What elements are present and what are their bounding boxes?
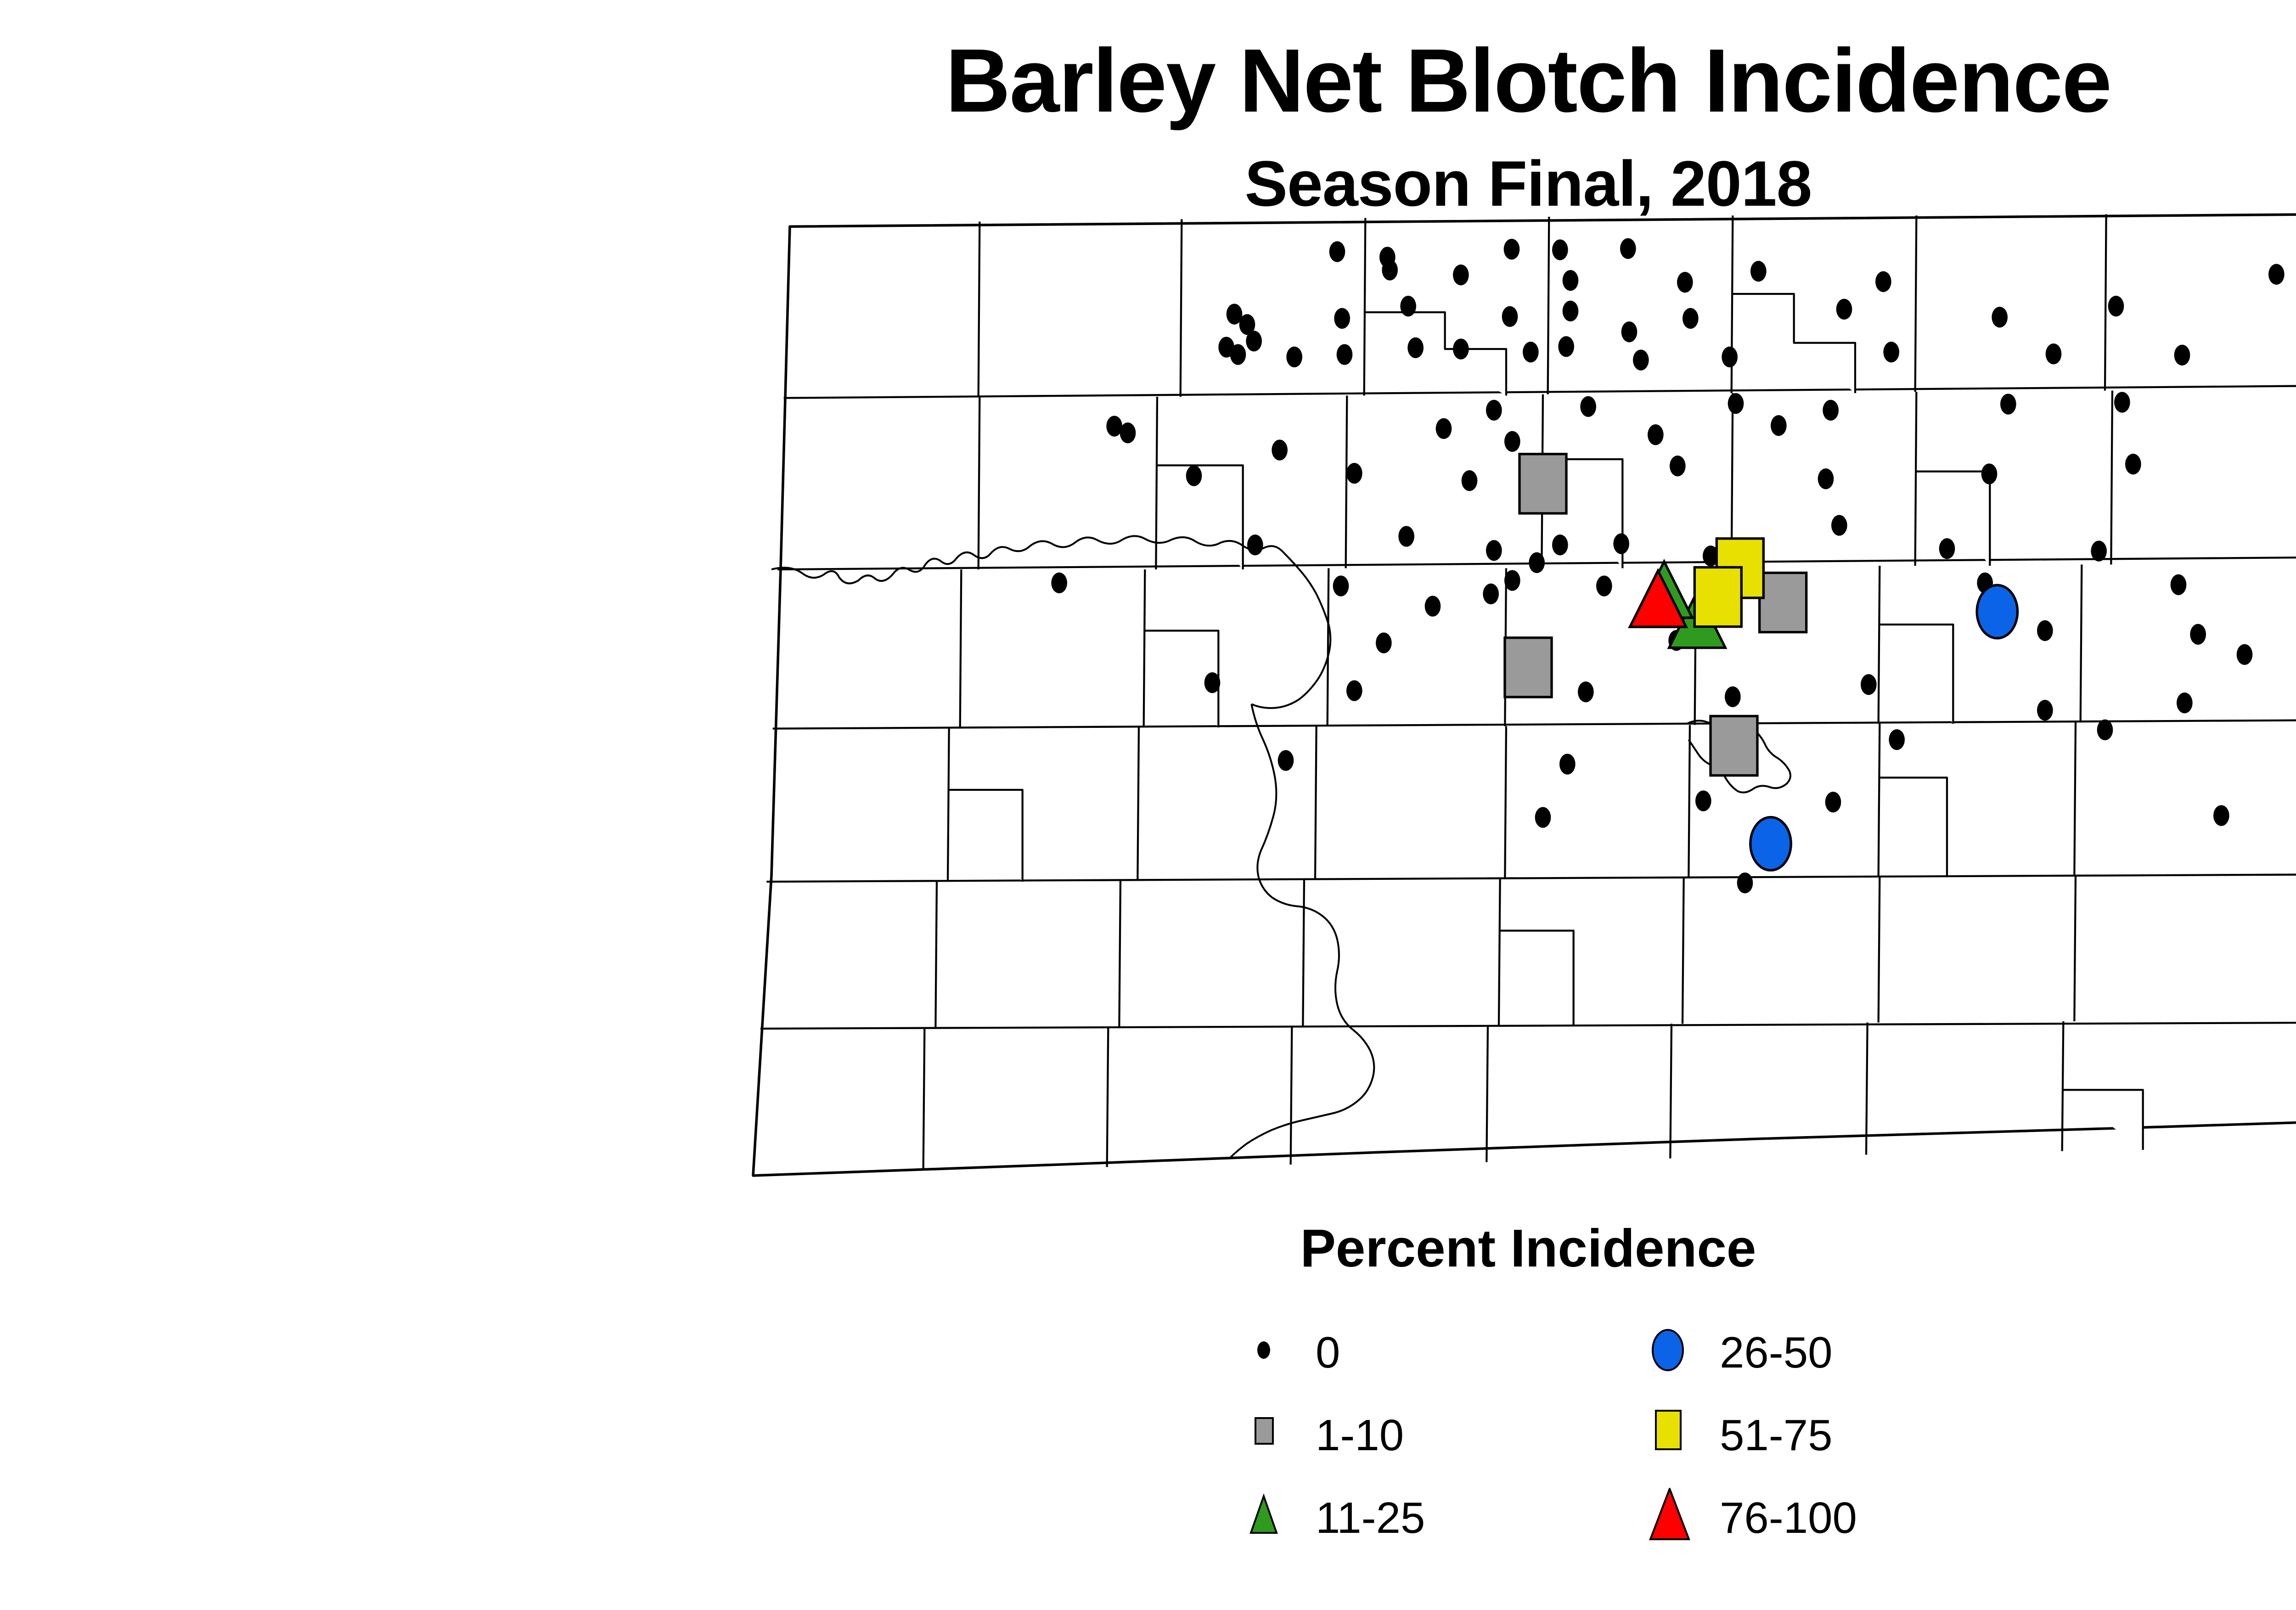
map-marker-0 <box>1486 400 1502 421</box>
map-marker-0 <box>1695 790 1711 811</box>
map-marker-0 <box>1981 463 1998 484</box>
map-marker-0 <box>1725 687 1741 707</box>
legend-triangle-icon <box>1240 1488 1295 1543</box>
map-marker-0 <box>1382 259 1398 280</box>
map-marker-0 <box>2237 644 2253 665</box>
map-marker-0 <box>1683 308 1699 329</box>
legend-label: 11-25 <box>1316 1496 1425 1540</box>
legend-label: 51-75 <box>1720 1413 1833 1458</box>
map-marker-0 <box>1836 299 1852 320</box>
map-marker-0 <box>1376 632 1392 653</box>
page-title: Barley Net Blotch Incidence <box>0 36 2296 126</box>
map-marker-0 <box>2174 345 2190 366</box>
map-marker-0 <box>1823 400 1839 421</box>
map-marker-0 <box>1563 270 1579 291</box>
map-marker-0 <box>2097 720 2113 740</box>
map-marker-0 <box>1750 261 1767 281</box>
map-marker-0 <box>1728 393 1744 414</box>
map-marker-0 <box>1939 538 1955 559</box>
legend-label: 26-50 <box>1720 1331 1833 1375</box>
map-marker-0 <box>1818 468 1834 489</box>
map-marker-0 <box>1670 456 1686 476</box>
map-marker-0 <box>2037 620 2053 641</box>
map-marker-0 <box>1825 792 1841 812</box>
map-marker-0 <box>1204 672 1221 693</box>
map-marker-51-75 <box>1694 567 1741 626</box>
map-marker-0 <box>2091 540 2107 561</box>
map-marker-0 <box>1120 422 1136 443</box>
map-marker-0 <box>1453 265 1469 285</box>
map-marker-1-10 <box>1711 716 1757 775</box>
map-marker-0 <box>1246 331 1262 351</box>
map-marker-0 <box>1529 552 1545 573</box>
map-marker-0 <box>1613 533 1629 554</box>
map-marker-0 <box>1346 463 1362 484</box>
map-marker-0 <box>1552 535 1568 555</box>
map-marker-0 <box>1453 338 1469 359</box>
map-marker-0 <box>1407 338 1424 358</box>
map-marker-0 <box>2108 296 2124 316</box>
map-marker-0 <box>1329 241 1345 262</box>
map-marker-0 <box>1523 342 1539 362</box>
map-marker-0 <box>1633 349 1649 370</box>
legend-square-icon <box>1240 1405 1295 1460</box>
legend-circle-icon <box>1644 1323 1699 1378</box>
map-marker-0 <box>1400 296 1416 316</box>
map-marker-0 <box>1186 465 1202 486</box>
legend: 01-1011-2526-5051-7576-100 <box>1240 1323 2020 1580</box>
map-marker-0 <box>1620 238 1636 259</box>
map-marker-0 <box>1558 336 1574 357</box>
map-marker-0 <box>1596 575 1612 596</box>
map-marker-0 <box>1722 347 1738 367</box>
map-marker-0 <box>1504 239 1520 259</box>
map-marker-1-10 <box>1519 454 1566 513</box>
map-marker-26-50 <box>1977 585 2017 638</box>
map-marker-0 <box>2037 700 2053 721</box>
map-marker-0 <box>2177 692 2193 713</box>
map-marker-0 <box>1333 575 1349 596</box>
map-canvas: Barley Net Blotch Incidence Season Final… <box>0 0 2296 1610</box>
map-marker-0 <box>1771 415 1787 436</box>
map-marker-0 <box>2114 392 2130 412</box>
map-marker-0 <box>1483 584 1499 604</box>
map-marker-0 <box>2171 574 2187 595</box>
legend-circle-icon <box>1240 1323 1295 1378</box>
map-marker-0 <box>1889 729 1905 750</box>
map-marker-0 <box>1861 674 1877 695</box>
map-marker-0 <box>1504 431 1520 452</box>
map-marker-0 <box>1552 239 1568 260</box>
map-marker-0 <box>1334 308 1350 329</box>
legend-square-icon <box>1644 1405 1699 1460</box>
map-marker-26-50 <box>1750 817 1791 871</box>
map-marker-0 <box>1425 596 1441 616</box>
map-marker-0 <box>1559 754 1576 774</box>
map-marker-1-10 <box>1505 638 1552 697</box>
map-marker-0 <box>1831 515 1847 535</box>
map-marker-0 <box>1504 570 1520 591</box>
map-marker-0 <box>1247 535 1263 555</box>
map-marker-0 <box>1462 470 1478 491</box>
map-marker-0 <box>1875 271 1891 292</box>
map-marker-0 <box>1272 439 1288 460</box>
map-marker-0 <box>2125 454 2141 474</box>
map-marker-0 <box>2000 394 2016 414</box>
legend-label: 76-100 <box>1720 1496 1857 1540</box>
map-marker-0 <box>2046 343 2062 364</box>
map-marker-0 <box>1230 344 1246 365</box>
map-marker-0 <box>1883 342 1899 362</box>
map-marker-0 <box>1578 681 1594 702</box>
map-marker-0 <box>1992 307 2008 327</box>
map-marker-0 <box>1486 540 1502 561</box>
map-marker-0 <box>1398 526 1414 546</box>
legend-triangle-icon <box>1644 1488 1699 1543</box>
map-marker-0 <box>1286 347 1302 367</box>
legend-label: 0 <box>1316 1331 1340 1375</box>
map-marker-0 <box>1535 807 1551 828</box>
map-marker-0 <box>1563 301 1579 321</box>
map-marker-0 <box>2268 264 2285 285</box>
map-marker-0 <box>1737 873 1753 893</box>
map-marker-0 <box>1580 396 1596 417</box>
map-marker-0 <box>2213 805 2229 826</box>
north-dakota-map <box>716 202 2296 1212</box>
map-marker-1-10 <box>1760 573 1806 632</box>
map-marker-0 <box>1346 680 1362 701</box>
map-svg <box>716 202 2296 1212</box>
map-marker-0 <box>1051 573 1067 593</box>
map-marker-0 <box>1677 272 1693 293</box>
map-marker-0 <box>1278 750 1294 771</box>
map-marker-0 <box>2190 624 2206 645</box>
map-marker-0 <box>1648 424 1664 445</box>
legend-label: 1-10 <box>1316 1413 1404 1458</box>
map-marker-0 <box>1337 344 1353 365</box>
map-marker-0 <box>1436 418 1452 439</box>
legend-title: Percent Incidence <box>0 1222 2296 1275</box>
map-marker-0 <box>1621 321 1638 342</box>
map-marker-0 <box>1502 306 1518 327</box>
